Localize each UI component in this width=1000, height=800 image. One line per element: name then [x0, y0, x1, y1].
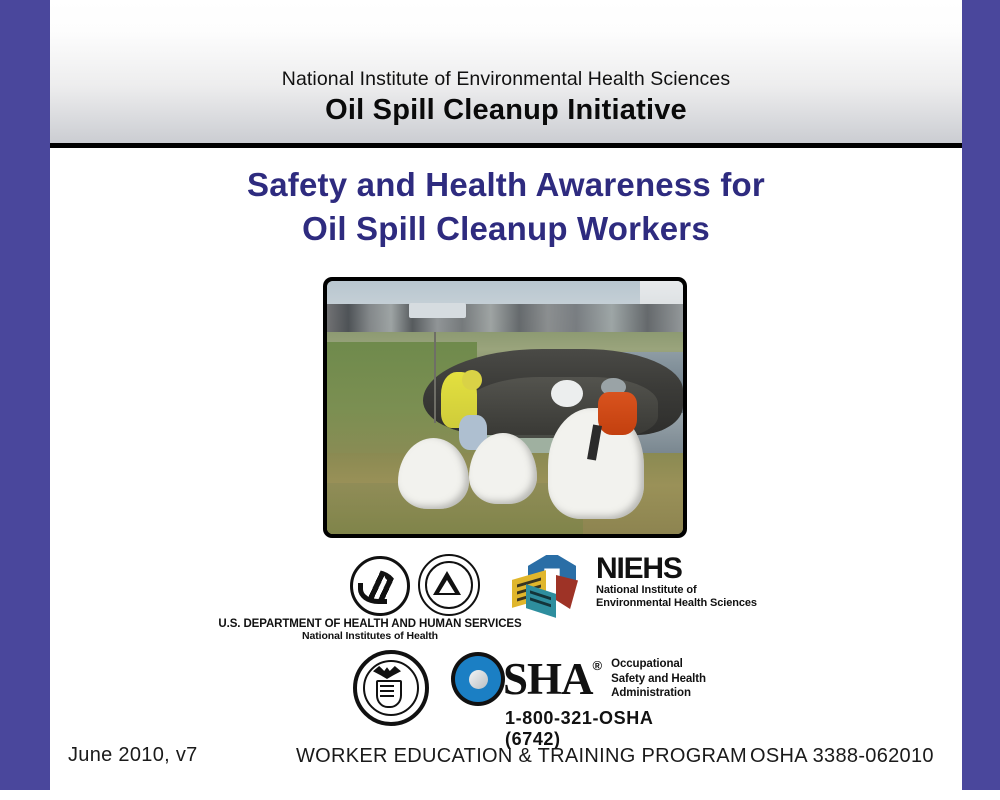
footer-version: June 2010, v7: [68, 744, 198, 767]
cover-photo-frame: [323, 277, 687, 538]
hhs-caption: U.S. DEPARTMENT OF HEALTH AND HUMAN SERV…: [50, 618, 690, 642]
right-accent-bar: [962, 0, 1000, 790]
niehs-teal-shape: [526, 584, 556, 618]
osha-o-icon: [455, 656, 501, 702]
cover-page: National Institute of Environmental Heal…: [0, 0, 1000, 800]
nih-institutes-line: National Institutes of Health: [50, 630, 690, 642]
niehs-logo-icon: [512, 555, 584, 613]
hhs-nih-niehs-logo-band: NIEHS National Institute of Environmenta…: [50, 552, 962, 644]
masthead-text: National Institute of Environmental Heal…: [50, 68, 962, 128]
niehs-acronym: NIEHS: [596, 554, 757, 584]
osha-registered-mark: ®: [593, 658, 603, 673]
dol-osha-logo-band: SHA ® Occupational Safety and Health Adm…: [50, 648, 962, 736]
nih-triangle-inner: [439, 580, 455, 593]
nih-seal-icon: [418, 554, 480, 616]
organization-name: National Institute of Environmental Heal…: [50, 68, 962, 90]
title-line-1: Safety and Health Awareness for: [50, 163, 962, 207]
osha-tagline-line-3: Administration: [611, 686, 706, 701]
dol-shield-shape: [376, 680, 402, 708]
footer-program: WORKER EDUCATION & TRAINING PROGRAM: [296, 745, 747, 768]
page-title: Safety and Health Awareness for Oil Spil…: [50, 163, 962, 251]
niehs-red-shape: [556, 575, 578, 609]
masthead-divider: [50, 143, 962, 148]
initiative-name: Oil Spill Cleanup Initiative: [50, 93, 962, 128]
left-accent-bar: [0, 0, 50, 790]
hhs-seal-icon: [350, 556, 410, 616]
photo-worker-white-center: [469, 433, 537, 504]
hhs-department-line: U.S. DEPARTMENT OF HEALTH AND HUMAN SERV…: [50, 618, 690, 630]
niehs-subtitle-line-2: Environmental Health Sciences: [596, 597, 757, 610]
photo-worker-yellow-hood: [462, 370, 482, 390]
hhs-profile-shape: [358, 583, 387, 604]
photo-pole: [434, 332, 436, 423]
niehs-subtitle-line-1: National Institute of: [596, 584, 757, 597]
department-of-labor-seal-icon: [353, 650, 429, 726]
masthead-banner: National Institute of Environmental Heal…: [50, 0, 962, 143]
footer-publication-number: OSHA 3388-062010: [750, 745, 934, 768]
niehs-wordmark: NIEHS National Institute of Environmenta…: [596, 554, 757, 611]
footer: June 2010, v7 WORKER EDUCATION & TRAININ…: [50, 744, 962, 780]
photo-worker-orange-backpack: [598, 392, 637, 435]
photo-white-truck: [409, 303, 466, 318]
osha-tagline-line-2: Safety and Health: [611, 672, 706, 687]
photo-vehicle-row: [327, 304, 683, 334]
osha-tagline: Occupational Safety and Health Administr…: [611, 657, 706, 702]
osha-wordmark-row: SHA ® Occupational Safety and Health Adm…: [455, 656, 706, 702]
osha-letters: SHA: [503, 657, 593, 702]
osha-tagline-line-1: Occupational: [611, 657, 706, 672]
osha-logo: SHA ® Occupational Safety and Health Adm…: [455, 656, 706, 702]
title-line-2: Oil Spill Cleanup Workers: [50, 207, 962, 251]
osha-o-inner-circle: [469, 670, 488, 689]
cover-photo: [327, 281, 683, 534]
